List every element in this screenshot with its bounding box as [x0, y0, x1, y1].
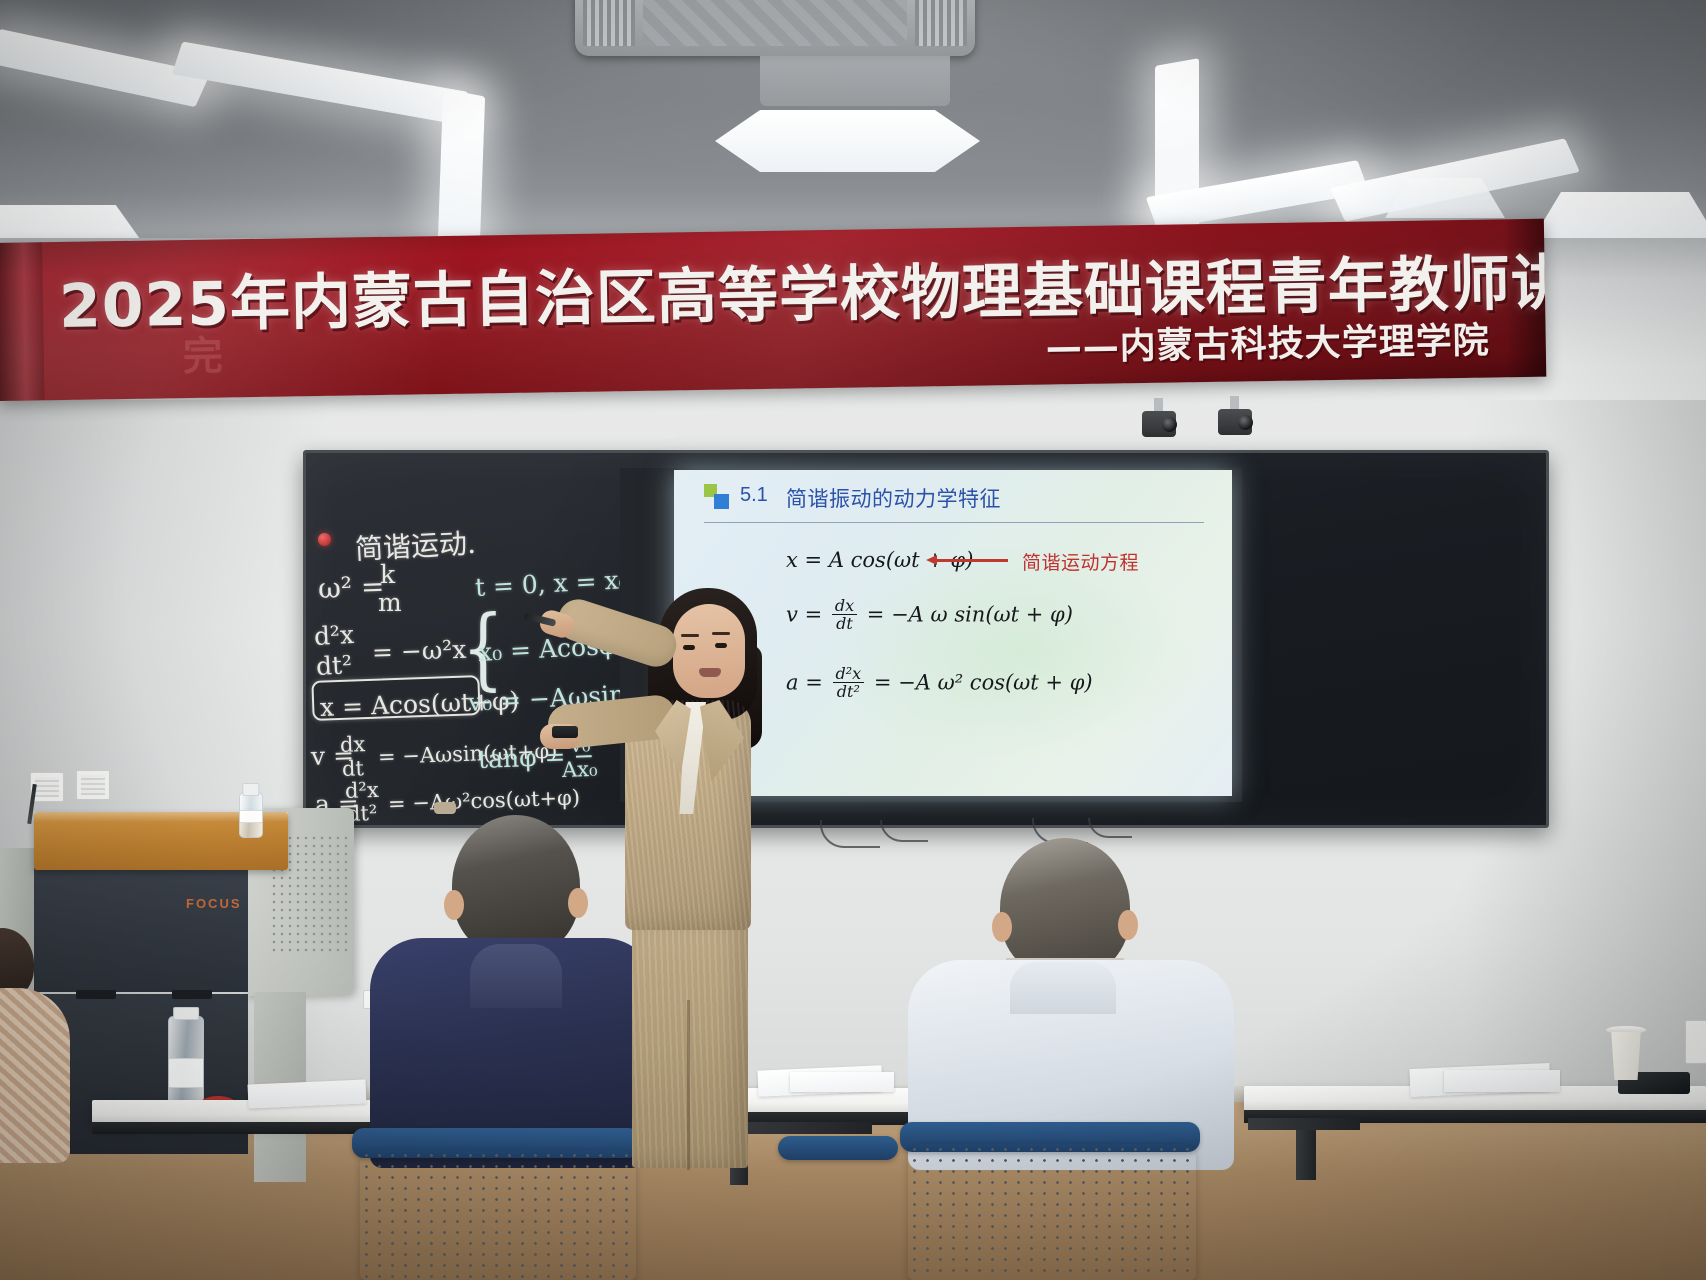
audience-collar-left — [470, 944, 562, 1008]
wall-camera-icon-left — [1142, 398, 1176, 444]
eq3-lhs: a — [786, 670, 799, 694]
classroom-photo-scene: 完 2025年内蒙古自治区高等学校物理基础课程青年教师讲课比赛 ——内蒙古科技大… — [0, 0, 1706, 1280]
slide-equation-2: v = dx dt = −A ω sin(ωt + φ) — [786, 598, 1073, 634]
competition-banner: 完 2025年内蒙古自治区高等学校物理基础课程青年教师讲课比赛 ——内蒙古科技大… — [0, 219, 1546, 401]
audience-ear-left-b — [568, 888, 588, 918]
chalk-line-4: d²x — [313, 620, 355, 651]
chair-right-back — [908, 1144, 1196, 1280]
audience-ear-right-a — [992, 912, 1012, 942]
bottle-cap — [173, 1007, 199, 1020]
eq3-denominator: dt² — [833, 683, 865, 700]
slide-annotation: 简谐运动方程 — [1022, 548, 1139, 575]
wall-socket-2 — [76, 770, 110, 800]
eq2-equals-b: = — [867, 602, 891, 626]
lectern-brand-label: FOCUS — [186, 896, 242, 911]
audience-ear-right-b — [1118, 910, 1138, 940]
chalk-line-6: = −ω²x — [371, 635, 466, 667]
eq3-equals-b: = — [874, 670, 898, 694]
banner-fold-left — [0, 242, 44, 401]
eq2-denominator: dt — [832, 615, 857, 632]
chalk-line-0: 简谐运动. — [354, 522, 477, 568]
water-bottle-on-lectern — [239, 792, 263, 838]
desk-papers-right-2 — [1444, 1070, 1560, 1092]
presentation-clicker-icon — [552, 726, 578, 738]
chair-middle-cushion — [778, 1136, 898, 1160]
presenter-trouser-seam — [687, 1000, 690, 1170]
lectern-front-panel — [34, 868, 248, 992]
audience-body-far-left — [0, 988, 70, 1163]
ac-vent-grille — [643, 0, 907, 46]
presenter-eye-left — [683, 645, 695, 650]
bottle-label — [240, 810, 262, 823]
eq2-lhs: v — [786, 602, 798, 626]
presenter-brow-right — [712, 632, 730, 635]
eq1-lhs: x — [786, 548, 798, 572]
desk-papers-left — [248, 1079, 367, 1108]
chair-left-back — [360, 1150, 636, 1280]
eq3-rhs: −A ω² cos(ωt + φ) — [898, 670, 1092, 694]
slide-section-number: 5.1 — [740, 484, 768, 507]
presenter-brow-left — [681, 634, 699, 637]
chalk-line-1: ω² = — [317, 570, 385, 605]
eq2-numerator: dx — [832, 597, 857, 615]
lectern-mic-pod-icon — [434, 802, 456, 814]
ceiling-panel — [760, 56, 950, 106]
bottle-cap — [242, 783, 259, 796]
audience-head-left — [452, 815, 580, 957]
presenter-trousers-texture — [632, 918, 748, 1168]
eq3-numerator: d²x — [833, 665, 865, 683]
red-arrow-icon — [936, 559, 1008, 562]
eq1-equals: = — [805, 548, 829, 572]
banner-subtitle: ——内蒙古科技大学理学院 — [1045, 312, 1490, 371]
wall-socket-4 — [1685, 1020, 1706, 1064]
slide-title: 简谐振动的动力学特征 — [786, 483, 1001, 513]
audience-collar-right — [1010, 962, 1116, 1014]
audience-ear-left-a — [444, 890, 464, 920]
camera-lens — [1238, 415, 1253, 430]
desk-left-edge — [92, 1122, 382, 1134]
ceiling-ac-vent — [575, 0, 975, 56]
slide-divider — [704, 522, 1204, 523]
chalk-line-5: dt² — [315, 650, 353, 681]
eq2-rhs: −A ω sin(ωt + φ) — [891, 602, 1073, 626]
chalk-line-9: dx — [340, 732, 366, 757]
blackboard-magnet-icon — [318, 533, 331, 546]
bullet-square-blue-icon — [714, 494, 729, 509]
chalk-line-13: d²x — [345, 778, 380, 803]
desk-right-brace — [1248, 1118, 1360, 1130]
eq3-fraction: d²x dt² — [833, 665, 865, 701]
chalk-line-3: m — [378, 588, 402, 617]
chalk-line-10: dt — [342, 756, 365, 781]
camera-lens — [1162, 417, 1177, 432]
presenter-eye-right — [715, 643, 727, 648]
ceiling-light-hexagon — [715, 110, 980, 172]
desk-papers-middle-2 — [790, 1072, 894, 1092]
chalk-line-21: Ax₀ — [562, 757, 598, 782]
audience-head-right — [1000, 838, 1130, 978]
lectern-hinge-left — [76, 990, 116, 999]
bottle-label — [169, 1058, 203, 1088]
eq3-equals-a: = — [805, 670, 829, 694]
eq2-equals-a: = — [805, 602, 829, 626]
chalk-line-2: k — [380, 560, 395, 589]
presentation-slide: 5.1 简谐振动的动力学特征 x = A cos(ωt + φ) 简谐运动方程 … — [674, 470, 1232, 796]
wall-camera-icon-right — [1218, 396, 1252, 442]
lectern-hinge-right — [172, 990, 212, 999]
presenter-mouth — [699, 668, 721, 677]
presenter-face — [673, 604, 745, 698]
slide-equation-3: a = d²x dt² = −A ω² cos(ωt + φ) — [786, 666, 1093, 702]
eq2-fraction: dx dt — [832, 597, 857, 633]
